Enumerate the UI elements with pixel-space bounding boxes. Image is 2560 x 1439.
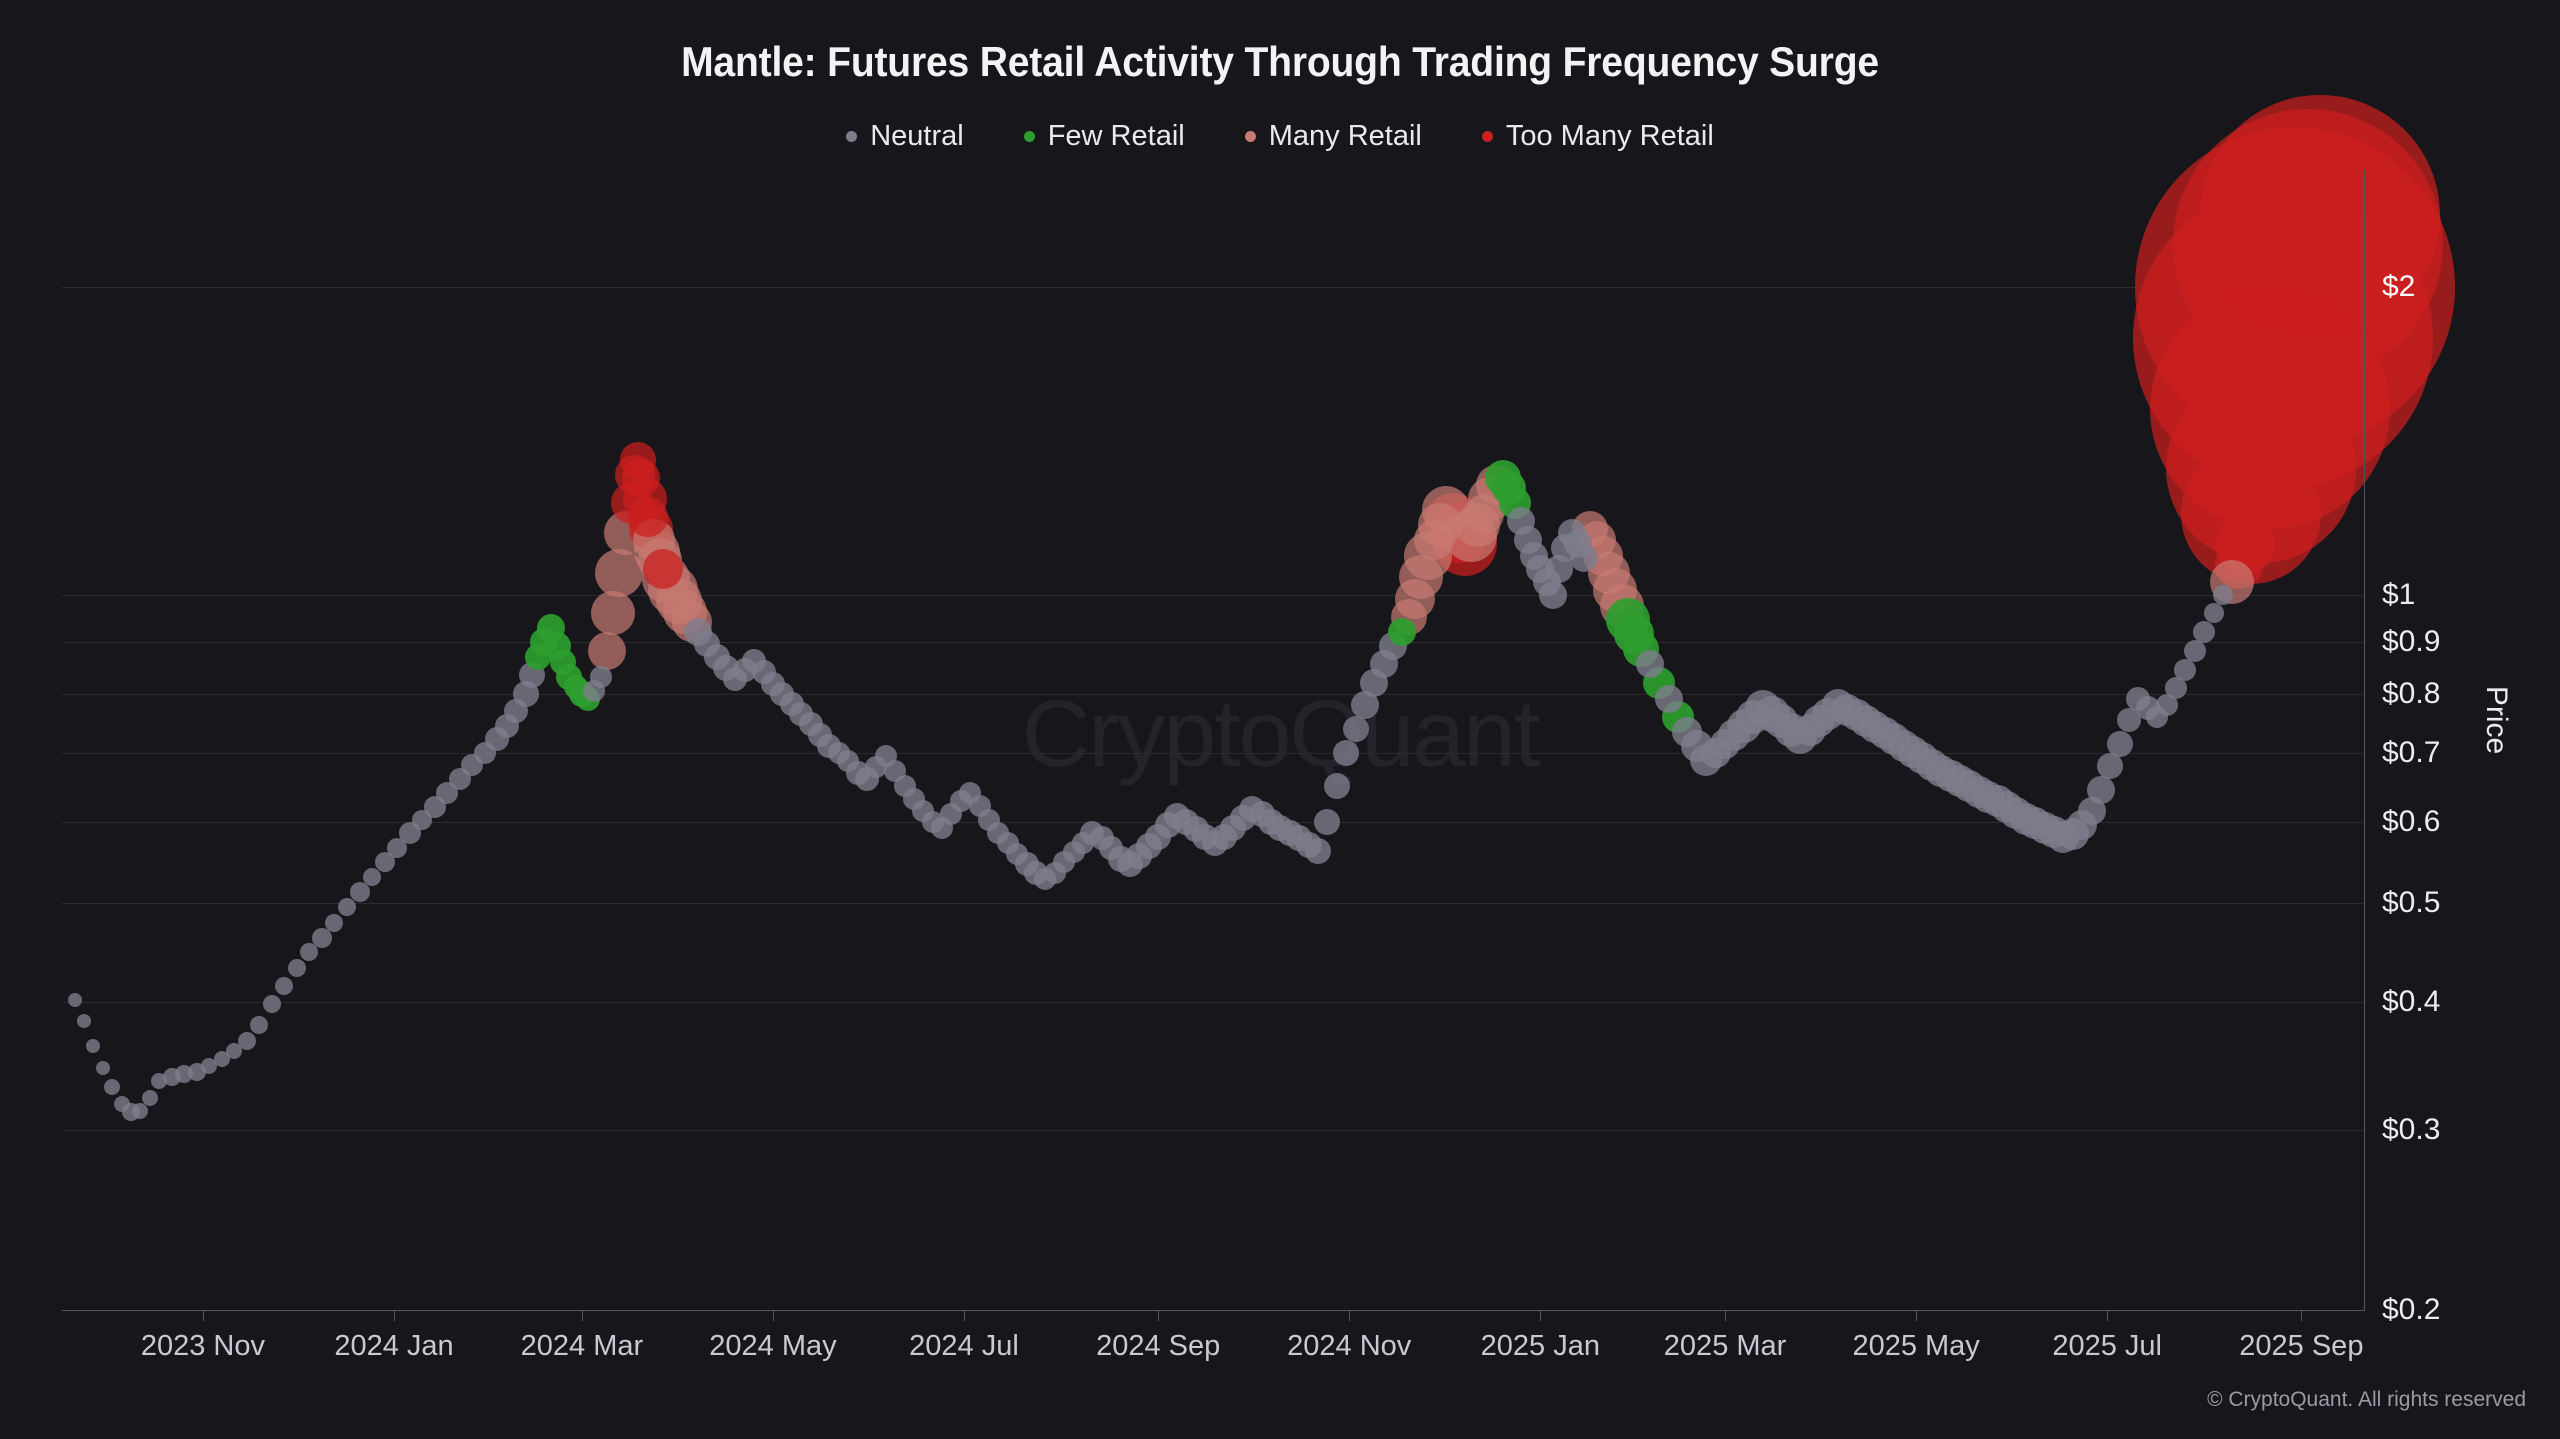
data-point-bubble[interactable] [1099, 836, 1123, 860]
legend-item-label: Few Retail [1048, 120, 1185, 153]
x-tick-label: 2024 Jan [334, 1330, 453, 1363]
legend-item-neutral[interactable]: Neutral [846, 120, 964, 153]
x-axis-line [62, 1310, 2364, 1311]
data-point-bubble[interactable] [2213, 585, 2233, 605]
data-point-bubble[interactable] [151, 1073, 167, 1089]
gridline [62, 595, 2364, 596]
x-tick-label: 2024 Mar [521, 1330, 644, 1363]
page-title: Mantle: Futures Retail Activity Through … [90, 38, 2471, 86]
x-tick-label: 2024 Nov [1287, 1330, 1411, 1363]
data-point-bubble[interactable] [77, 1014, 91, 1028]
data-point-bubble[interactable] [263, 995, 281, 1013]
data-point-bubble[interactable] [1710, 729, 1740, 759]
data-point-bubble[interactable] [288, 959, 306, 977]
x-tick-label: 2023 Nov [141, 1330, 265, 1363]
data-point-bubble[interactable] [2165, 677, 2187, 699]
data-point-bubble[interactable] [591, 591, 635, 635]
chart-legend: NeutralFew RetailMany RetailToo Many Ret… [0, 120, 2560, 153]
data-point-bubble[interactable] [1655, 685, 1683, 713]
legend-item-too-many-retail[interactable]: Too Many Retail [1482, 120, 1714, 153]
data-point-bubble[interactable] [300, 943, 318, 961]
gridline [62, 753, 2364, 754]
data-point-bubble[interactable] [1672, 717, 1702, 747]
data-point-bubble[interactable] [504, 699, 528, 723]
data-point-bubble[interactable] [643, 549, 683, 589]
data-point-bubble[interactable] [2087, 776, 2115, 804]
x-axis-tick [1540, 1310, 1541, 1321]
x-tick-label: 2024 Sep [1096, 1330, 1220, 1363]
x-axis-tick [1349, 1310, 1350, 1321]
x-axis-tick [1158, 1310, 1159, 1321]
data-point-bubble[interactable] [628, 497, 668, 537]
x-tick-label: 2025 Sep [2239, 1330, 2363, 1363]
y-tick-label: $1 [2382, 578, 2415, 612]
x-axis-tick [2301, 1310, 2302, 1321]
x-tick-label: 2025 Jan [1481, 1330, 1600, 1363]
x-axis-tick [203, 1310, 204, 1321]
plot-area [62, 170, 2364, 1310]
data-point-bubble[interactable] [590, 666, 612, 688]
legend-swatch-icon [1482, 131, 1493, 142]
y-axis-line [2364, 170, 2365, 1311]
x-axis-tick [394, 1310, 395, 1321]
data-point-bubble[interactable] [474, 742, 496, 764]
y-tick-label: $0.5 [2382, 886, 2440, 920]
data-point-bubble[interactable] [1388, 618, 1416, 646]
legend-item-label: Many Retail [1269, 120, 1422, 153]
x-tick-label: 2024 May [709, 1330, 836, 1363]
data-point-bubble[interactable] [1343, 716, 1369, 742]
data-point-bubble[interactable] [1314, 809, 1340, 835]
gridline [62, 1002, 2364, 1003]
data-point-bubble[interactable] [2193, 621, 2215, 643]
gridline [62, 642, 2364, 643]
data-point-bubble[interactable] [1006, 843, 1028, 865]
data-point-bubble[interactable] [338, 898, 356, 916]
legend-item-few-retail[interactable]: Few Retail [1024, 120, 1185, 153]
x-tick-label: 2025 May [1852, 1330, 1979, 1363]
data-point-bubble[interactable] [1570, 544, 1598, 572]
data-point-bubble[interactable] [837, 750, 859, 772]
data-point-bubble[interactable] [1072, 832, 1094, 854]
data-point-bubble[interactable] [104, 1079, 120, 1095]
data-point-bubble[interactable] [142, 1090, 158, 1106]
data-point-bubble[interactable] [2097, 753, 2123, 779]
data-point-bubble[interactable] [2107, 731, 2133, 757]
data-point-bubble[interactable] [96, 1061, 110, 1075]
y-tick-label: $0.9 [2382, 625, 2440, 659]
legend-item-label: Too Many Retail [1506, 120, 1714, 153]
data-point-bubble[interactable] [275, 977, 293, 995]
data-point-bubble[interactable] [363, 868, 381, 886]
data-point-bubble[interactable] [2204, 603, 2224, 623]
legend-swatch-icon [1245, 131, 1256, 142]
x-axis-tick [1725, 1310, 1726, 1321]
x-axis-tick [1916, 1310, 1917, 1321]
legend-swatch-icon [846, 131, 857, 142]
gridline [62, 903, 2364, 904]
x-axis-tick [582, 1310, 583, 1321]
data-point-bubble[interactable] [1333, 740, 1359, 766]
y-tick-label: $0.2 [2382, 1293, 2440, 1327]
x-axis-tick [773, 1310, 774, 1321]
data-point-bubble[interactable] [620, 442, 656, 478]
legend-item-many-retail[interactable]: Many Retail [1245, 120, 1422, 153]
data-point-bubble[interactable] [86, 1039, 100, 1053]
gridline [62, 694, 2364, 695]
legend-item-label: Neutral [870, 120, 964, 153]
data-point-bubble[interactable] [250, 1016, 268, 1034]
chart-root: Mantle: Futures Retail Activity Through … [0, 0, 2560, 1439]
x-axis-tick [964, 1310, 965, 1321]
data-point-bubble[interactable] [588, 632, 626, 670]
y-tick-label: $0.8 [2382, 677, 2440, 711]
legend-swatch-icon [1024, 131, 1035, 142]
y-tick-label: $0.7 [2382, 736, 2440, 770]
data-point-bubble[interactable] [1636, 650, 1664, 678]
x-tick-label: 2025 Jul [2052, 1330, 2162, 1363]
data-point-bubble[interactable] [1414, 520, 1454, 560]
y-tick-label: $2 [2382, 270, 2415, 304]
gridline [62, 1130, 2364, 1131]
x-tick-label: 2024 Jul [909, 1330, 1019, 1363]
data-point-bubble[interactable] [1539, 581, 1567, 609]
data-point-bubble[interactable] [2184, 640, 2206, 662]
y-tick-label: $0.4 [2382, 985, 2440, 1019]
data-point-bubble[interactable] [525, 644, 551, 670]
data-point-bubble[interactable] [412, 810, 432, 830]
y-axis-title: Price [2479, 686, 2513, 754]
y-tick-label: $0.6 [2382, 805, 2440, 839]
data-point-bubble[interactable] [325, 914, 343, 932]
data-point-bubble[interactable] [1305, 838, 1331, 864]
data-point-bubble[interactable] [114, 1096, 130, 1112]
data-point-bubble[interactable] [387, 838, 407, 858]
data-point-bubble[interactable] [1324, 773, 1350, 799]
x-tick-label: 2025 Mar [1664, 1330, 1787, 1363]
x-axis-tick [2107, 1310, 2108, 1321]
data-point-bubble[interactable] [68, 993, 82, 1007]
gridline [62, 287, 2364, 288]
data-point-bubble[interactable] [226, 1043, 242, 1059]
copyright-footer: © CryptoQuant. All rights reserved [2207, 1388, 2526, 1412]
y-tick-label: $0.3 [2382, 1113, 2440, 1147]
